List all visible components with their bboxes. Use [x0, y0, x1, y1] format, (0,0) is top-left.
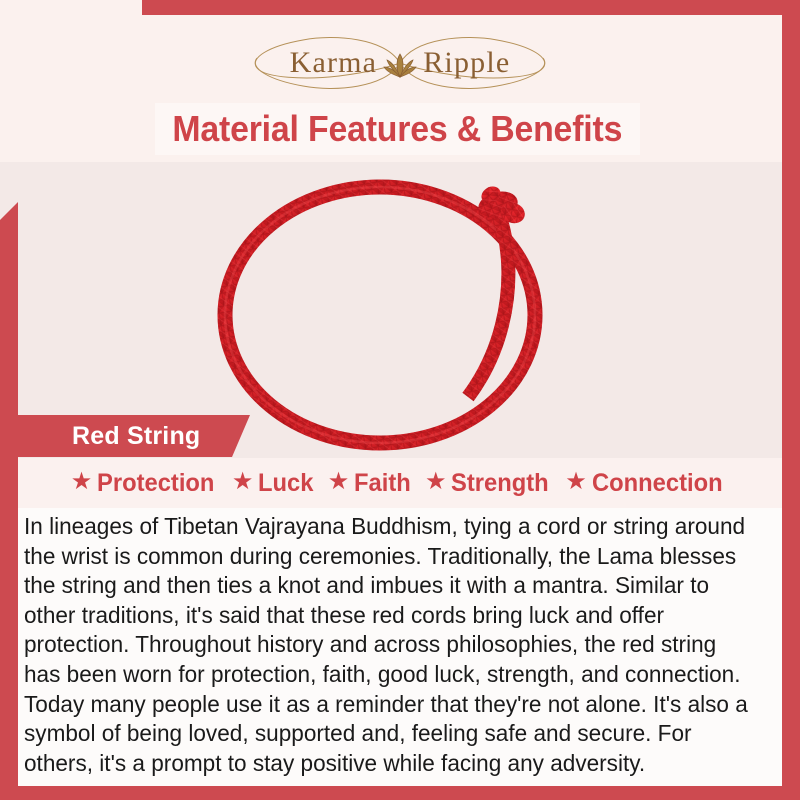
brand-name-first: Karma	[288, 46, 380, 80]
benefit-item-connection: ★ Connection	[565, 469, 729, 498]
star-icon: ★	[232, 470, 254, 494]
star-icon: ★	[565, 470, 587, 494]
benefit-label: Connection	[592, 469, 723, 498]
brand-logo: Karma Ripple	[0, 30, 800, 96]
frame-border-right	[782, 0, 800, 800]
brand-name-second: Ripple	[421, 46, 512, 80]
title-banner: Material Features & Benefits	[155, 103, 640, 155]
page-title: Material Features & Benefits	[173, 108, 623, 150]
red-string-label: Red String	[18, 422, 200, 451]
benefit-item-protection: ★ Protection	[71, 469, 221, 498]
brand-logo-text: Karma Ripple	[288, 46, 513, 80]
star-icon: ★	[71, 470, 93, 494]
lotus-icon	[383, 50, 417, 80]
frame-border-top	[142, 0, 800, 15]
brand-logo-inner: Karma Ripple	[235, 32, 565, 94]
frame-border-bottom	[0, 786, 800, 800]
benefit-label: Protection	[97, 469, 214, 498]
star-icon: ★	[328, 470, 350, 494]
benefit-item-strength: ★ Strength	[425, 469, 554, 498]
benefit-item-faith: ★ Faith	[328, 469, 414, 498]
red-string-ribbon: Red String	[18, 415, 250, 457]
frame-border-left	[0, 198, 18, 800]
benefit-label: Faith	[354, 469, 411, 498]
benefits-list: ★ Protection ★ Luck ★ Faith ★ Strength ★…	[18, 462, 782, 504]
infographic-page: Karma Ripple Material Fea	[0, 0, 800, 800]
description-text: In lineages of Tibetan Vajrayana Buddhis…	[24, 512, 750, 778]
benefit-label: Strength	[451, 469, 549, 498]
benefit-item-luck: ★ Luck	[232, 469, 317, 498]
benefit-label: Luck	[258, 469, 313, 498]
star-icon: ★	[425, 470, 447, 494]
